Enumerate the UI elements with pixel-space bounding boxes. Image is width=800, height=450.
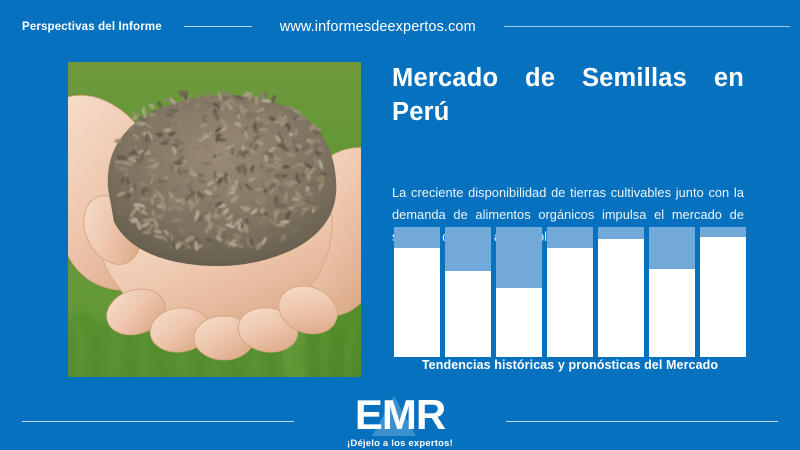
chart-bar-segment-blue [496, 227, 542, 288]
chart-bar [394, 227, 440, 357]
chart-bar-segment-blue [394, 227, 440, 248]
seeds-photo-illustration [68, 62, 361, 377]
header-divider-left [184, 26, 252, 27]
chart-bar-segment-blue [598, 227, 644, 239]
main-content: Mercado de Semillas en Perú La creciente… [392, 62, 744, 248]
chart-bar [700, 227, 746, 357]
header-divider-right [504, 26, 790, 27]
footer-divider-right [506, 421, 778, 422]
chart-bar [496, 227, 542, 357]
chart-bar [598, 227, 644, 357]
chart-bar [445, 227, 491, 357]
chart-bar-segment-white [700, 237, 746, 357]
emr-wordmark-icon: EMR [320, 392, 480, 437]
chart-bar-segment-white [394, 248, 440, 357]
chart-bar-segment-white [598, 239, 644, 357]
chart-bars [394, 227, 746, 357]
hero-image-seeds-in-hands [68, 62, 361, 377]
chart-bar-segment-white [445, 271, 491, 357]
header-website-url[interactable]: www.informesdeexpertos.com [280, 19, 476, 35]
market-trends-chart [394, 227, 746, 357]
page-title: Mercado de Semillas en Perú [392, 62, 744, 164]
header-label: Perspectivas del Informe [22, 21, 162, 33]
chart-bar-segment-white [649, 269, 695, 357]
chart-bar [649, 227, 695, 357]
svg-text:EMR: EMR [355, 392, 446, 437]
emr-logo-tagline: ¡Déjelo a los expertos! [347, 438, 453, 449]
footer-divider-left [22, 421, 294, 422]
chart-caption: Tendencias históricas y pronósticas del … [392, 358, 748, 372]
page-header: Perspectivas del Informe www.informesdee… [0, 0, 800, 53]
page-footer: EMR ¡Déjelo a los expertos! [0, 392, 800, 450]
chart-bar-segment-blue [649, 227, 695, 269]
chart-bar [547, 227, 593, 357]
chart-bar-segment-blue [700, 227, 746, 237]
chart-bar-segment-blue [547, 227, 593, 248]
emr-logo[interactable]: EMR ¡Déjelo a los expertos! [294, 392, 506, 450]
chart-bar-segment-blue [445, 227, 491, 271]
emr-logo-mark: EMR [320, 392, 480, 437]
chart-bar-segment-white [547, 248, 593, 357]
chart-bar-segment-white [496, 288, 542, 357]
